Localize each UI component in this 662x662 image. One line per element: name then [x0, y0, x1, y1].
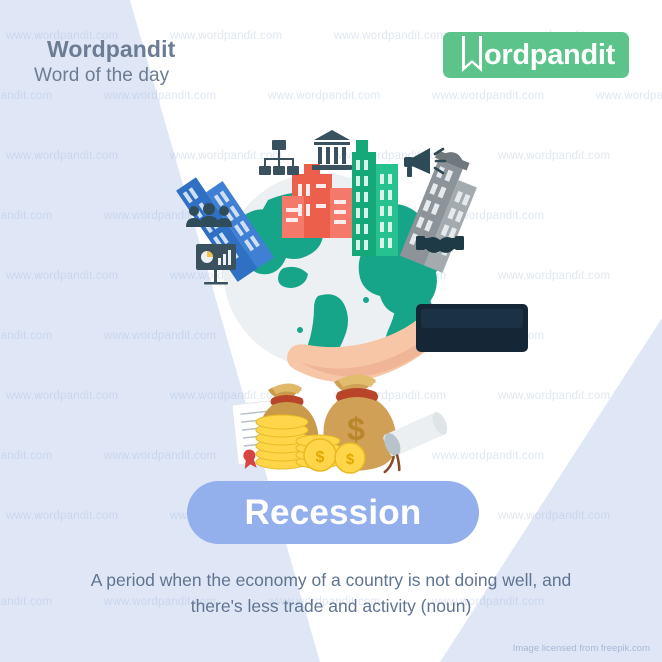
watermark-text: www.wordpandit.com	[0, 330, 52, 342]
watermark-text: www.wordpandit.com	[0, 90, 52, 102]
watermark-text: www.wordpandit.com	[0, 450, 52, 462]
word-term: Recession	[245, 493, 422, 533]
watermark-text: www.wordpandit.com	[6, 150, 118, 162]
definition-line-2: there's less trade and activity (noun)	[28, 593, 634, 619]
logo-text: ordpandit	[484, 41, 615, 70]
definition-text: A period when the economy of a country i…	[0, 567, 662, 620]
page-subtitle: Word of the day	[34, 65, 175, 87]
page-title: Wordpandit	[47, 36, 175, 62]
word-banner[interactable]: Recession	[187, 481, 479, 544]
bookmark-icon	[459, 32, 485, 78]
watermark-text: www.wordpandit.com	[104, 450, 216, 462]
watermark-text: www.wordpandit.com	[6, 390, 118, 402]
watermark-text: www.wordpandit.com	[104, 330, 216, 342]
wordpandit-logo[interactable]: ordpandit	[443, 32, 629, 78]
image-credit: Image licensed from freepik.com	[513, 643, 650, 654]
header: Wordpandit Word of the day	[47, 36, 175, 87]
watermark-text: www.wordpandit.com	[6, 270, 118, 282]
word-of-the-day-card: www.wordpandit.com www.wordpandit.com ww…	[0, 0, 662, 662]
watermark-text: www.wordpandit.com	[0, 210, 52, 222]
definition-line-1: A period when the economy of a country i…	[28, 567, 634, 593]
watermark-text: www.wordpandit.com	[6, 510, 118, 522]
